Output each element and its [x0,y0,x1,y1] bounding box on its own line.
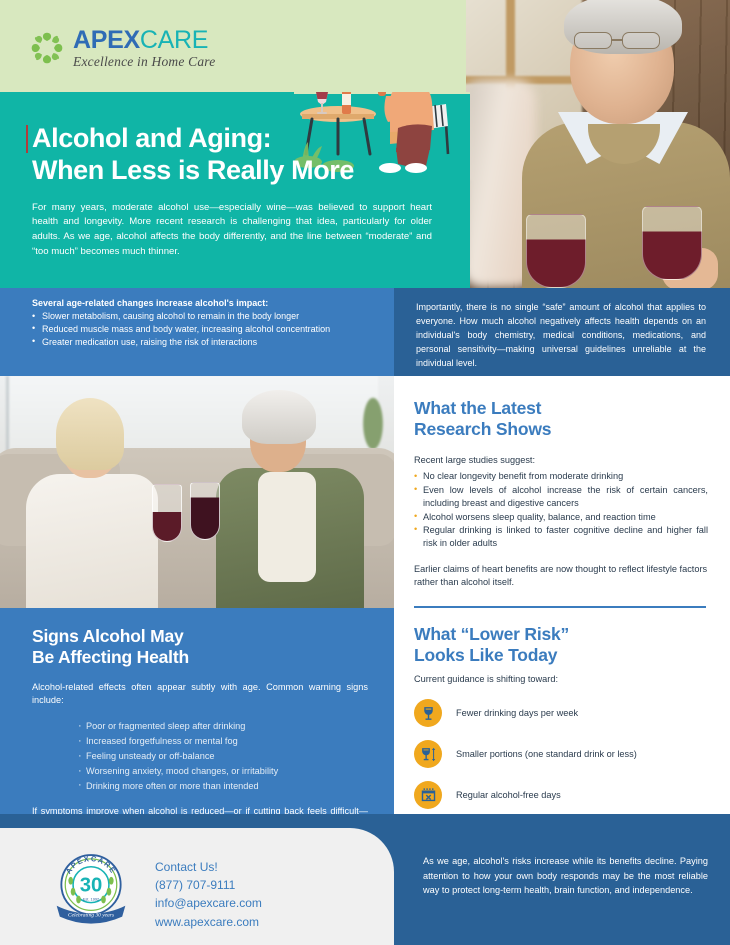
brand-name-secondary: CARE [140,26,208,54]
guidance-label: Fewer drinking days per week [456,708,578,718]
signs-list: Poor or fragmented sleep after drinking … [78,719,372,794]
hero-section: Alcohol and Aging: When Less is Really M… [0,92,470,288]
anniversary-badge-icon: APEXCARE 30 Est. 1992 Celebrating 30 yea… [52,848,130,926]
list-item: Poor or fragmented sleep after drinking [78,719,372,734]
lower-risk-guidance-list: Fewer drinking days per week Smaller por… [414,699,708,809]
contact-info: Contact Us! (877) 707-9111 info@apexcare… [155,858,262,931]
footer-closing-text: As we age, alcohol's risks increase whil… [423,854,708,898]
list-item: Reduced muscle mass and body water, incr… [32,323,380,336]
no-safe-amount-panel: Importantly, there is no single “safe” a… [394,288,730,376]
contact-heading: Contact Us! [155,858,262,876]
signs-title-line2: Be Affecting Health [32,647,372,668]
research-section-title: What the Latest Research Shows [414,398,708,441]
age-changes-list: Slower metabolism, causing alcohol to re… [32,310,380,348]
signs-title-line1: Signs Alcohol May [32,626,372,647]
guidance-label: Regular alcohol-free days [456,790,561,800]
list-item: Smaller portions (one standard drink or … [414,740,708,768]
list-item: Regular drinking is linked to faster cog… [414,524,708,551]
lower-risk-title-line2: Looks Like Today [414,645,708,666]
age-changes-panel: Several age-related changes increase alc… [0,288,394,376]
senior-couple-toasting-wine-on-sofa-photo [0,376,394,608]
contact-phone[interactable]: (877) 707-9111 [155,876,262,894]
list-item: Regular alcohol-free days [414,781,708,809]
list-item: Fewer drinking days per week [414,699,708,727]
right-content-column: What the Latest Research Shows Recent la… [394,376,730,814]
svg-text:Est. 1992: Est. 1992 [83,896,99,901]
research-title-line1: What the Latest [414,398,708,419]
contact-email[interactable]: info@apexcare.com [155,894,262,912]
brand-tagline: Excellence in Home Care [73,55,215,69]
signs-section: Signs Alcohol May Be Affecting Health Al… [0,608,394,814]
list-item: No clear longevity benefit from moderate… [414,470,708,483]
lower-risk-section-title: What “Lower Risk” Looks Like Today [414,624,708,667]
brand-name-primary: APEX [73,26,140,54]
research-lead: Recent large studies suggest: [414,454,708,468]
lower-risk-lead: Current guidance is shifting toward: [414,673,708,687]
list-item: Alcohol worsens sleep quality, balance, … [414,511,708,524]
hero-title-line2: When Less is Really More [32,154,436,186]
lower-risk-title-line1: What “Lower Risk” [414,624,708,645]
contact-website[interactable]: www.apexcare.com [155,913,262,931]
list-item: Greater medication use, raising the risk… [32,336,380,349]
wine-glass-icon [414,699,442,727]
svg-text:30: 30 [80,875,103,897]
list-item: Increased forgetfulness or mental fog [78,734,372,749]
calendar-x-icon [414,781,442,809]
research-title-line2: Research Shows [414,419,708,440]
no-safe-amount-text: Importantly, there is no single “safe” a… [416,301,706,371]
age-changes-heading: Several age-related changes increase alc… [32,298,380,308]
brand-logo: APEXCARE Excellence in Home Care [30,28,215,69]
list-item: Worsening anxiety, mood changes, or irri… [78,764,372,779]
list-item: Slower metabolism, causing alcohol to re… [32,310,380,323]
apexcare-clover-logo-icon [30,31,64,65]
list-item: Feeling unsteady or off-balance [78,749,372,764]
list-item: Even low levels of alcohol increase the … [414,484,708,511]
hero-body-text: For many years, moderate alcohol use—esp… [32,201,432,259]
wine-glass-measure-icon [414,740,442,768]
signs-lead: Alcohol-related effects often appear sub… [32,681,368,709]
list-item: Drinking more often or more than intende… [78,779,372,794]
title-accent-bar [26,125,28,153]
signs-section-title: Signs Alcohol May Be Affecting Health [32,626,372,669]
hero-title-line1: Alcohol and Aging: [32,122,436,154]
guidance-label: Smaller portions (one standard drink or … [456,749,637,759]
research-note: Earlier claims of heart benefits are now… [414,563,708,591]
section-divider [414,606,706,607]
research-list: No clear longevity benefit from moderate… [414,470,708,550]
senior-man-holding-wine-glass-photo [466,0,730,288]
svg-text:Celebrating 30 years: Celebrating 30 years [68,913,114,919]
infographic-page: APEXCARE Excellence in Home Care [0,0,730,945]
